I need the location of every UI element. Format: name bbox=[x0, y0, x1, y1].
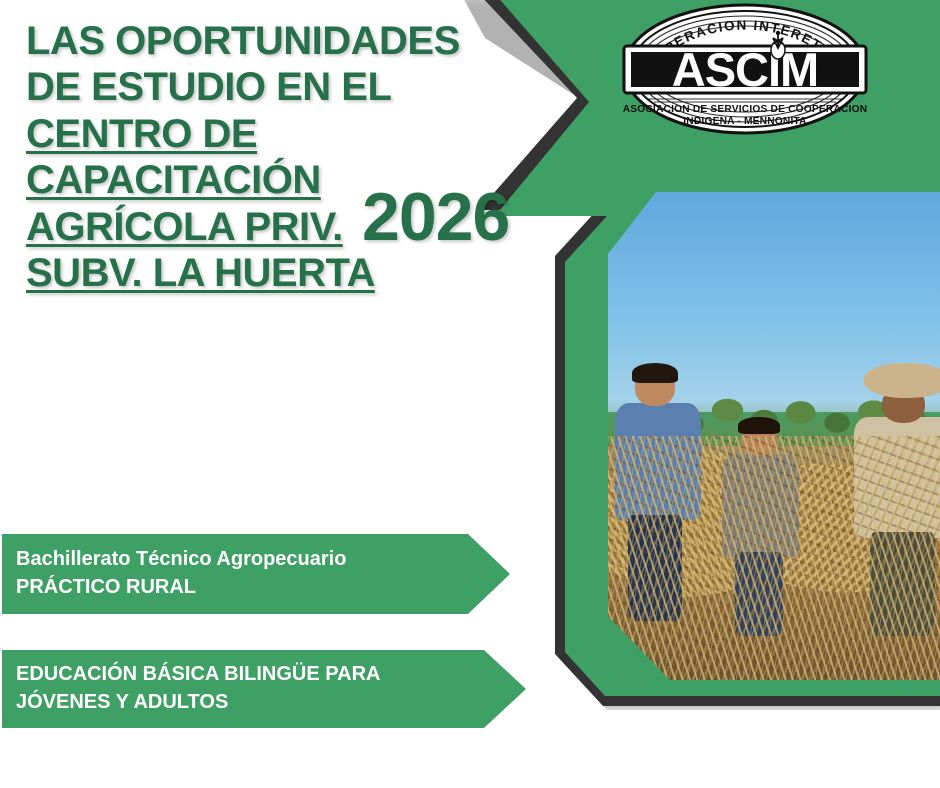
banner-educacion: EDUCACIÓN BÁSICA BILINGÜE PARA JÓVENES Y… bbox=[2, 650, 526, 728]
headline-line-1: LAS OPORTUNIDADES bbox=[26, 18, 456, 64]
ascim-logo: COOPERACION INTERETNICA ASCIM ASOCIACION… bbox=[622, 2, 868, 136]
headline-line-6: SUBV. LA HUERTA bbox=[26, 250, 456, 296]
headline-line-2: DE ESTUDIO EN EL bbox=[26, 64, 456, 110]
logo-subtitle-line2: INDIGENA - MENNONITA bbox=[683, 116, 807, 127]
banner-2-line-2: JÓVENES Y ADULTOS bbox=[16, 689, 526, 717]
headline-line-3: CENTRO DE bbox=[26, 111, 456, 157]
students-harvesting-photo bbox=[608, 192, 940, 680]
photo-straw-texture bbox=[608, 436, 940, 680]
banner-1-line-1: Bachillerato Técnico Agropecuario bbox=[16, 546, 510, 574]
banner-bachillerato: Bachillerato Técnico Agropecuario PRÁCTI… bbox=[2, 534, 510, 614]
poster-root: COOPERACION INTERETNICA ASCIM ASOCIACION… bbox=[0, 0, 940, 788]
banner-1-line-2: PRÁCTICO RURAL bbox=[16, 574, 510, 602]
logo-subtitle-line1: ASOCIACION DE SERVICIOS DE COOPERACION bbox=[623, 104, 868, 115]
banner-2-line-1: EDUCACIÓN BÁSICA BILINGÜE PARA bbox=[16, 661, 526, 689]
year-label: 2026 bbox=[362, 183, 509, 251]
